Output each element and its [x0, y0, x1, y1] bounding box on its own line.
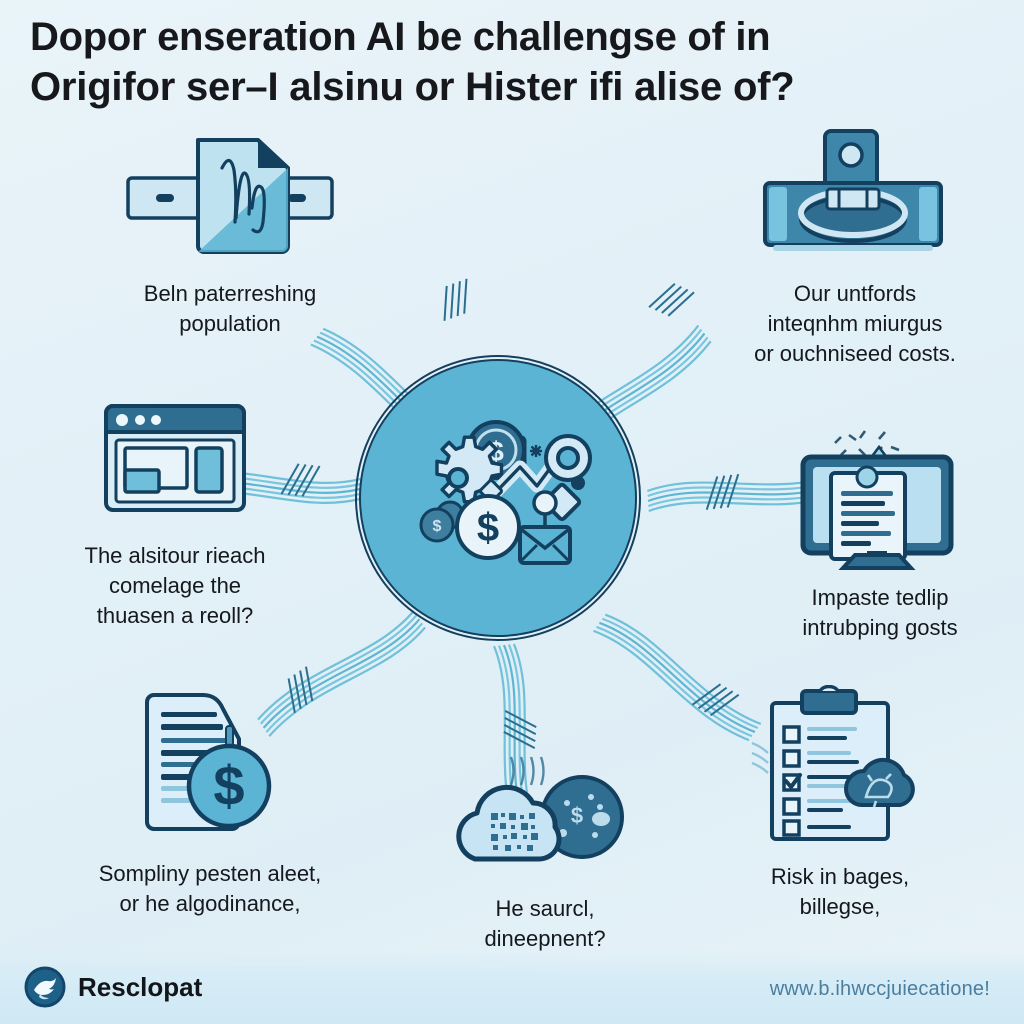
svg-text:$: $: [213, 754, 244, 817]
node-label: Risk in bages, billegse,: [680, 862, 1000, 922]
node-browser-window[interactable]: The alsitour rieach comelage the thuasen…: [10, 398, 340, 631]
node-label: The alsitour rieach comelage the thuasen…: [10, 541, 340, 631]
scanner-machine-icon: [755, 125, 955, 260]
node-scanner-machine[interactable]: Our untfords inteqnhm miurgus or ouchnis…: [680, 125, 1024, 369]
title-line-1: Dopor enseration AI be challengse of in: [30, 12, 994, 62]
footer-bar: Resclopat www.b.ihwccjuiecatione!: [0, 952, 1024, 1024]
sparkle-icon: [530, 445, 542, 457]
brand-logo-bird-icon: [24, 966, 66, 1008]
node-signed-document[interactable]: Beln paterreshing population: [60, 130, 400, 339]
node-clipboard-checklist[interactable]: Risk in bages, billegse,: [680, 685, 1000, 922]
node-label: Impaste tedlip intrubping gosts: [730, 583, 1024, 643]
dot-icon: [571, 476, 585, 490]
node-desktop-monitor[interactable]: Impaste tedlip intrubping gosts: [730, 415, 1024, 643]
node-label: Our untfords inteqnhm miurgus or ouchnis…: [680, 279, 1024, 369]
brand-block[interactable]: Resclopat: [24, 966, 202, 1008]
dollar-coin-icon: $: [457, 496, 519, 558]
svg-text:$: $: [433, 518, 442, 535]
footer-url[interactable]: www.b.ihwccjuiecatione!: [770, 978, 990, 1001]
invoice-coin-icon: $: [125, 690, 295, 840]
brand-name: Resclopat: [78, 972, 202, 1003]
hub-icon-cluster: $: [355, 355, 645, 645]
desktop-monitor-document-icon: [795, 415, 965, 570]
node-cloud-qr[interactable]: $ He saurcl, di: [400, 755, 690, 954]
infographic-poster: Dopor enseration AI be challengse of in …: [0, 0, 1024, 1024]
clipboard-checklist-cloud-icon: [750, 685, 930, 845]
central-hub: $: [355, 355, 645, 645]
node-invoice-coin[interactable]: $ Sompliny pesten aleet, or he algodinan…: [40, 690, 380, 919]
title-line-2: Origifor ser–I alsinu or Hister ifi alis…: [30, 62, 994, 112]
signed-document-icon: [110, 130, 350, 260]
browser-window-icon: [100, 398, 250, 518]
svg-text:$: $: [571, 803, 583, 828]
node-label: Sompliny pesten aleet, or he algodinance…: [40, 859, 380, 919]
node-label: Beln paterreshing population: [60, 279, 400, 339]
magnifier-ring-icon: [546, 436, 590, 480]
page-title: Dopor enseration AI be challengse of in …: [30, 12, 994, 112]
cloud-qr-code-icon: $: [445, 755, 645, 875]
node-label: He saurcl, dineepnent?: [400, 894, 690, 954]
svg-text:$: $: [477, 506, 499, 550]
